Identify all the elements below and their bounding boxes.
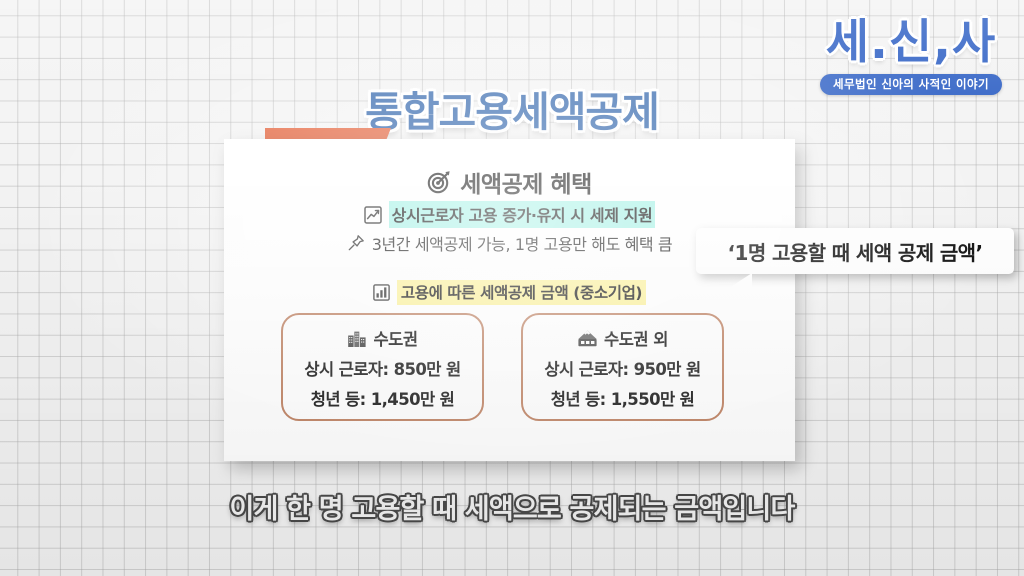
region-head-capital: 수도권: [283, 326, 482, 350]
region-line-capital-2: 청년 등: 1,450만 원: [283, 385, 482, 415]
region-box-capital: 수도권 상시 근로자: 850만 원 청년 등: 1,450만 원: [281, 313, 484, 421]
card-title-row: 세액공제 혜택: [224, 165, 795, 199]
dart-target-icon: [427, 170, 451, 194]
section-label-text: 고용에 따른 세액공제 금액 (중소기업): [397, 280, 646, 305]
chart-increasing-icon: [364, 206, 382, 224]
callout-bubble: ‘1명 고용할 때 세액 공제 금액’: [696, 228, 1014, 274]
content-card: 세액공제 혜택 상시근로자 고용 증가·유지 시 세제 지원 3년간 세액: [224, 139, 795, 461]
pushpin-icon: [347, 234, 365, 252]
region-box-noncapital: 수도권 외 상시 근로자: 950만 원 청년 등: 1,550만 원: [521, 313, 724, 421]
region-line-noncapital-2: 청년 등: 1,550만 원: [523, 385, 722, 415]
card-title-text: 세액공제 혜택: [460, 165, 591, 199]
slide-canvas: 세.신,사 세무법인 신아의 사적인 이야기 통합고용세액공제 세액공제 혜택: [0, 0, 1024, 576]
section-label-row: 고용에 따른 세액공제 금액 (중소기업): [224, 280, 795, 305]
region-head-noncapital: 수도권 외: [523, 326, 722, 350]
logo-wordmark: 세.신,사: [806, 14, 1016, 72]
region-title-capital: 수도권: [373, 326, 417, 350]
bullet-row-1: 상시근로자 고용 증가·유지 시 세제 지원: [224, 201, 795, 228]
page-title: 통합고용세액공제: [0, 78, 1024, 138]
cityscape-icon: [347, 329, 367, 348]
video-subtitle: 이게 한 명 고용할 때 세액으로 공제되는 금액입니다: [0, 487, 1024, 526]
bar-chart-icon: [373, 284, 390, 301]
mountain-house-icon: [577, 329, 598, 348]
bullet-text-2: 3년간 세액공제 가능, 1명 고용만 해도 혜택 큼: [372, 231, 673, 255]
bullet-text-1: 상시근로자 고용 증가·유지 시 세제 지원: [389, 201, 656, 228]
region-line-noncapital-1: 상시 근로자: 950만 원: [523, 355, 722, 385]
region-title-noncapital: 수도권 외: [604, 326, 668, 350]
region-line-capital-1: 상시 근로자: 850만 원: [283, 355, 482, 385]
callout-text: ‘1명 고용할 때 세액 공제 금액’: [728, 237, 983, 266]
